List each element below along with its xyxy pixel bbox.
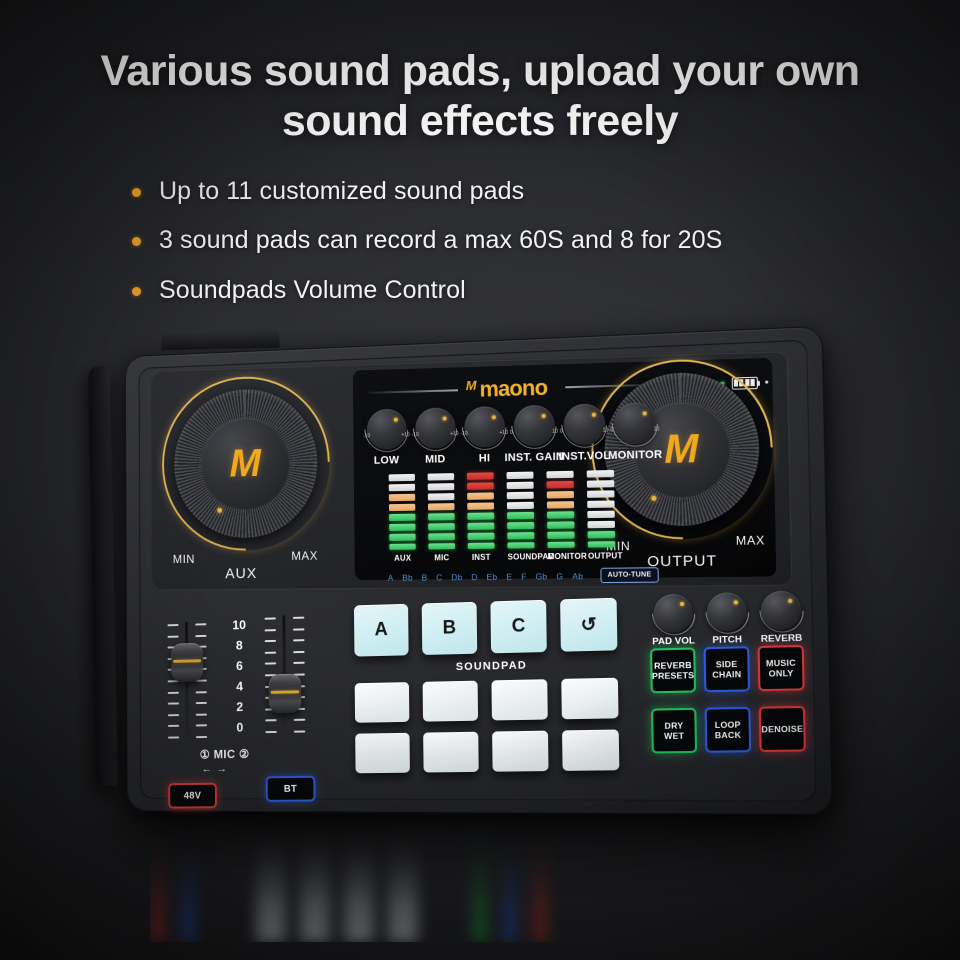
vu-segment (428, 533, 455, 540)
vu-segment (389, 544, 415, 551)
vu-segment (507, 532, 534, 539)
vu-meter-soundpad: SOUNDPAD (506, 472, 534, 562)
reflection-streak (344, 824, 374, 942)
knob-body (563, 403, 605, 445)
function-button-row-2: DRYWETLOOPBACKDENOISE (651, 706, 808, 754)
soundpad-blank-button[interactable] (491, 679, 547, 720)
fader-tick (293, 651, 304, 653)
vu-segment (428, 473, 455, 480)
soundpad-section-label: SOUNDPAD (355, 657, 632, 675)
soundpad-button-b[interactable]: B (422, 602, 478, 655)
fader-tick (265, 640, 276, 642)
knob-indicator (442, 416, 446, 420)
knob-body (415, 407, 456, 449)
vu-segment (428, 493, 455, 500)
knob-max-tick: 10 (603, 428, 609, 434)
aux-min-label: MIN (173, 552, 195, 566)
maono-audio-mixer-device: M maono ᛏ M MIN MAX AUX (108, 340, 820, 812)
vu-segment (547, 501, 574, 508)
vu-segment (587, 490, 614, 497)
function-button-line1: LOOP (715, 719, 741, 730)
bullet-dot-icon (132, 188, 141, 197)
knob-label: LOW (374, 454, 400, 466)
reflection-streak (150, 824, 166, 942)
vu-segment (507, 522, 534, 529)
key-label-ab: Ab (572, 570, 583, 580)
vu-segment (507, 502, 534, 509)
bluetooth-bt-button[interactable]: BT (266, 776, 316, 802)
function-button-line2: PRESETS (652, 670, 694, 681)
knob-indicator (788, 599, 792, 603)
function-button-line2: WET (664, 731, 684, 742)
vu-segment (468, 522, 495, 529)
fader-tick (293, 639, 304, 641)
knob-label: PAD VOL (652, 635, 695, 647)
soundpad-zone: ABC↺ SOUNDPAD (354, 597, 634, 773)
fader-scale-tick: 6 (225, 659, 253, 672)
effects-zone: PAD VOLPITCHREVERB REVERBPRESETSSIDECHAI… (649, 590, 808, 753)
surface-reflection (150, 812, 790, 942)
knob-indicator (734, 600, 738, 604)
output-max-label: MAX (736, 533, 765, 548)
reflection-streak (300, 824, 330, 942)
feature-bullet-text: Soundpads Volume Control (159, 274, 466, 307)
reflection-streak (180, 824, 196, 942)
vu-segment (467, 512, 494, 519)
phantom-power-48v-button[interactable]: 48V (168, 783, 217, 809)
power-dot-icon (765, 380, 769, 384)
fader-tick (168, 703, 179, 705)
fader-scale-tick: 10 (225, 618, 253, 631)
vu-segment (389, 524, 415, 531)
maono-m-icon: M (466, 378, 477, 391)
soundpad-blank-button[interactable] (355, 682, 410, 723)
soundpad-row-3 (355, 729, 633, 773)
vu-segment (428, 503, 455, 510)
knob-indicator (393, 418, 397, 422)
vu-meter-output: OUTPUT (587, 470, 616, 561)
fader-tick (168, 691, 179, 693)
vu-segment (389, 514, 415, 521)
output-knob-pointer (651, 495, 656, 500)
fader-tick (167, 624, 178, 626)
fader-tick (168, 714, 179, 716)
knob-indicator (491, 415, 495, 419)
vu-segment (506, 472, 533, 479)
device-hinge (161, 328, 280, 351)
mic-channel-label: ① MIC ② (200, 747, 250, 761)
vu-segment (468, 532, 495, 539)
vu-segment (389, 504, 415, 511)
key-label-e: E (506, 571, 512, 581)
fader-tick (265, 617, 276, 619)
function-button-line2: CHAIN (712, 669, 741, 680)
vu-segment (547, 542, 574, 549)
feature-bullet: 3 sound pads can record a max 60S and 8 … (132, 224, 892, 257)
knob-label: HI (479, 452, 490, 464)
lower-control-panel: 1086420 ① MIC ② ← → 48V BT ABC↺ SOUNDPAD (145, 588, 800, 797)
eq-knob-hi[interactable]: -10+10HI (460, 406, 508, 448)
knob-max-tick: 10 (654, 426, 660, 432)
key-label-a: A (388, 572, 394, 582)
aux-volume-knob[interactable]: M (174, 387, 318, 538)
function-button-loop-back[interactable]: LOOPBACK (705, 707, 752, 753)
knob-label: REVERB (761, 633, 803, 645)
function-button-line2: ONLY (769, 668, 794, 679)
knob-min-tick: 0 (560, 429, 563, 435)
vu-segment (467, 502, 494, 509)
vu-segment (547, 511, 574, 518)
knob-max-tick: +10 (499, 430, 508, 436)
fader-tick (196, 702, 207, 704)
soundpad-blank-button[interactable] (561, 678, 618, 720)
function-button-music-only[interactable]: MUSICONLY (758, 645, 805, 691)
mic-fader-group: 1086420 ① MIC ② ← → 48V BT (167, 612, 328, 791)
function-button-line1: DRY (664, 720, 683, 731)
fader-tick (265, 629, 276, 631)
eq-knob-mid[interactable]: -10+10MID (411, 407, 458, 449)
vu-segment (587, 521, 615, 528)
function-button-denoise[interactable]: DENOISE (759, 706, 806, 752)
fader-tick (293, 628, 304, 630)
knob-indicator (541, 414, 545, 418)
feature-bullet: Up to 11 customized sound pads (132, 175, 892, 208)
vu-segment (389, 534, 415, 541)
feature-bullet: Soundpads Volume Control (132, 274, 892, 307)
knob-min-tick: -10 (363, 433, 370, 439)
reflection-streak (532, 824, 548, 942)
vu-segment (507, 512, 534, 519)
maono-m-icon: M (664, 428, 699, 470)
key-label-gb: Gb (535, 571, 547, 581)
fader-tick (196, 691, 207, 693)
vu-segment (389, 494, 415, 501)
fader-tick (168, 725, 179, 727)
effect-knob-row: PAD VOLPITCHREVERB (649, 590, 805, 633)
function-button-reverb-presets[interactable]: REVERBPRESETS (650, 647, 696, 693)
bullet-dot-icon (132, 287, 141, 296)
soundpad-loop-button[interactable]: ↺ (560, 598, 617, 652)
knob-min-tick: 0 (510, 430, 513, 436)
knob-body (513, 405, 555, 447)
mic2-fader-handle[interactable] (269, 674, 302, 714)
vu-meter-aux: AUX (389, 474, 416, 563)
vu-segment (428, 513, 455, 520)
vu-segment (389, 474, 415, 481)
aux-knob-label: AUX (225, 565, 257, 582)
key-label-c: C (436, 572, 442, 582)
knob-body (366, 409, 406, 451)
key-label-d: D (471, 571, 477, 581)
knob-indicator (642, 411, 646, 415)
knob-label: MONITOR (608, 449, 662, 462)
fader-tick (195, 634, 206, 636)
soundpad-top-row: ABC↺ (354, 597, 632, 656)
knob-label: INST.VOL (559, 450, 611, 463)
feature-bullet-text: Up to 11 customized sound pads (159, 175, 524, 208)
fader-scale-tick: 4 (225, 680, 253, 693)
fader-tick (195, 623, 206, 625)
knob-label: INST. GAIN (505, 451, 565, 464)
effect-knob-pad-vol[interactable]: PAD VOL (649, 593, 697, 633)
fader-tick (293, 617, 304, 619)
feature-bullet-text: 3 sound pads can record a max 60S and 8 … (159, 224, 722, 257)
marketing-copy: Various sound pads, upload your own soun… (0, 0, 960, 323)
fader-tick (265, 663, 276, 665)
knob-body (464, 406, 505, 448)
function-button-line1: MUSIC (766, 657, 796, 668)
knob-max-tick: +10 (450, 431, 458, 437)
vu-segment (507, 542, 534, 549)
knob-max-tick: +10 (401, 432, 409, 438)
reflection-streak (502, 824, 518, 942)
vu-segment (507, 482, 534, 489)
knob-indicator (591, 413, 595, 417)
eq-knob-inst-gain[interactable]: 010INST. GAIN (510, 405, 559, 447)
vu-segment (546, 471, 573, 478)
brand-logo: M maono (466, 377, 548, 401)
function-button-dry-wet[interactable]: DRYWET (651, 708, 697, 754)
eq-knob-low[interactable]: -10+10LOW (363, 408, 410, 450)
vu-segment (428, 543, 455, 550)
vu-meter-label: MONITOR (548, 552, 575, 561)
soundpad-row-2 (355, 677, 633, 722)
eq-knob-inst-vol[interactable]: 010INST.VOL (560, 403, 609, 446)
vu-segment (468, 543, 495, 550)
bullet-dot-icon (132, 237, 141, 246)
knob-indicator (680, 602, 684, 606)
mic-direction-arrows: ← → (202, 763, 228, 775)
fader-tick (265, 651, 276, 653)
eq-knob-row: -10+10LOW-10+10MID-10+10HI010INST. GAIN0… (363, 402, 660, 450)
vu-segment (389, 484, 415, 491)
brand-wordmark: maono (479, 377, 547, 401)
aux-knob-pointer (217, 508, 222, 513)
vu-meter-label: INST (468, 553, 495, 562)
soundpad-blank-button[interactable] (492, 731, 548, 772)
fader-tick (196, 713, 207, 715)
effect-knob-pitch[interactable]: PITCH (703, 592, 751, 632)
vu-segment (547, 491, 574, 498)
fader-scale-tick: 0 (226, 721, 254, 734)
vu-meter-mic: MIC (428, 473, 456, 562)
eq-knob-monitor[interactable]: 010MONITOR (610, 402, 660, 445)
key-label-b: B (422, 572, 428, 582)
vu-segment (547, 521, 574, 528)
fader-tick (196, 736, 207, 738)
soundpad-blank-button[interactable] (355, 733, 410, 773)
fader-scale-tick: 8 (225, 639, 253, 652)
fader-scale: 1086420 (225, 618, 254, 734)
knob-label: PITCH (712, 634, 742, 646)
reflection-streak (388, 824, 418, 942)
fader-tick (168, 736, 179, 738)
vu-segment (547, 481, 574, 488)
soundpad-button-a[interactable]: A (354, 604, 409, 657)
vu-segment (587, 480, 614, 487)
page-title: Various sound pads, upload your own soun… (0, 0, 960, 147)
vu-segment (507, 492, 534, 499)
fader-tick (196, 725, 207, 727)
knob-min-tick: -10 (412, 432, 419, 438)
reflection-streak (472, 824, 488, 942)
fader-tick (265, 731, 276, 733)
vu-segment (588, 531, 616, 538)
vu-segment (588, 541, 616, 548)
vu-segment (428, 483, 455, 490)
vu-meter-monitor: MONITOR (546, 471, 574, 561)
vu-segment (467, 482, 494, 489)
vu-segment (467, 472, 494, 479)
key-label-eb: Eb (486, 571, 497, 581)
knob-min-tick: 0 (610, 427, 613, 433)
vu-meter-label: MIC (429, 553, 456, 562)
function-button-line2: BACK (715, 730, 742, 741)
vu-segment (587, 470, 614, 477)
auto-tune-button[interactable]: AUTO-TUNE (600, 567, 658, 583)
upper-control-panel: M maono ᛏ M MIN MAX AUX (151, 350, 793, 590)
function-button-row-1: REVERBPRESETSSIDECHAINMUSICONLY (650, 645, 807, 693)
vu-meter-label: OUTPUT (588, 551, 616, 560)
fader-scale-tick: 2 (226, 700, 254, 713)
soundpad-button-c[interactable]: C (490, 600, 546, 654)
effect-knob-reverb[interactable]: REVERB (756, 590, 805, 630)
soundpad-blank-button[interactable] (423, 732, 479, 773)
vu-meter-inst: INST (467, 472, 495, 562)
reflection-streak (256, 824, 286, 942)
vu-segment (467, 492, 494, 499)
knob-body (613, 402, 655, 445)
key-label-g: G (556, 571, 563, 581)
function-button-side-chain[interactable]: SIDECHAIN (703, 646, 750, 692)
fader-tick (294, 731, 305, 733)
vu-meter-group: AUXMICINSTSOUNDPADMONITOROUTPUT (389, 470, 616, 563)
fader-tick (265, 720, 276, 722)
autotune-key-row: ABbBCDbDEbEFGbGAbAUTO-TUNE (388, 567, 659, 585)
mic1-fader[interactable] (167, 621, 207, 742)
key-label-bb: Bb (402, 572, 413, 582)
maono-m-icon: M (229, 444, 261, 484)
knob-min-tick: -10 (460, 431, 467, 437)
device-left-edge (88, 366, 118, 786)
vu-segment (587, 511, 614, 518)
function-button-line1: SIDE (716, 659, 738, 670)
vu-meter-label: SOUNDPAD (508, 552, 535, 561)
mic1-fader-handle[interactable] (171, 643, 203, 683)
fader-tick (167, 635, 178, 637)
mic2-fader[interactable] (265, 615, 306, 737)
soundpad-blank-button[interactable] (562, 730, 619, 771)
key-label-f: F (521, 571, 527, 581)
function-button-line1: DENOISE (761, 723, 803, 734)
soundpad-blank-button[interactable] (423, 681, 479, 722)
vu-segment (428, 523, 455, 530)
vu-meter-label: AUX (389, 553, 415, 562)
knob-max-tick: 10 (552, 429, 558, 435)
aux-max-label: MAX (291, 549, 318, 563)
fader-tick (294, 719, 305, 721)
vu-segment (587, 500, 614, 507)
feature-bullet-list: Up to 11 customized sound pads3 sound pa… (132, 175, 892, 307)
product-feature-image: Various sound pads, upload your own soun… (0, 0, 960, 960)
knob-label: MID (425, 453, 445, 465)
key-label-db: Db (451, 572, 462, 582)
fader-tick (293, 662, 304, 664)
vu-segment (547, 531, 574, 538)
